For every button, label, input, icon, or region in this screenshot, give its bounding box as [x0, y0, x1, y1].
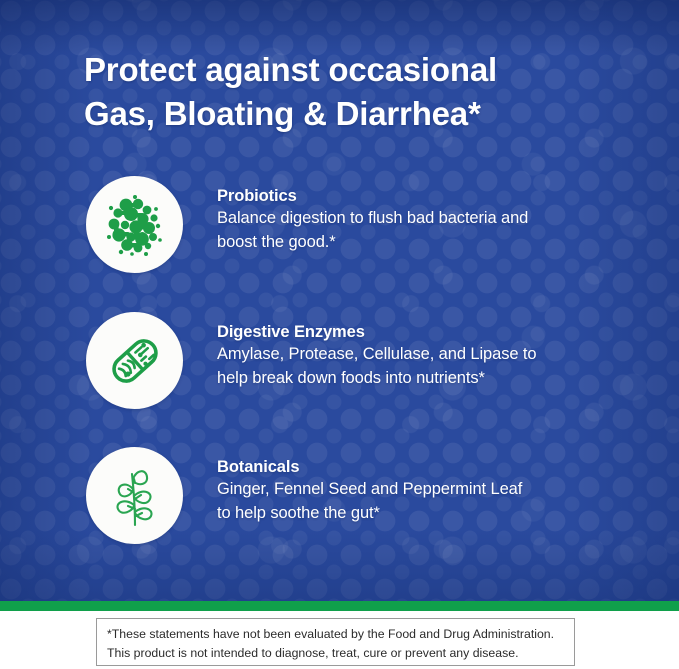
- feature-text-botanicals: Botanicals Ginger, Fennel Seed and Peppe…: [183, 447, 522, 525]
- feature-text-probiotics: Probiotics Balance digestion to flush ba…: [183, 176, 528, 254]
- blue-background-panel: Protect against occasional Gas, Bloating…: [0, 0, 679, 601]
- feature-row-botanicals: Botanicals Ginger, Fennel Seed and Peppe…: [86, 447, 606, 544]
- feature-description-line-1: Amylase, Protease, Cellulase, and Lipase…: [217, 342, 536, 366]
- disclaimer-box: *These statements have not been evaluate…: [96, 618, 575, 666]
- feature-description: Amylase, Protease, Cellulase, and Lipase…: [217, 342, 536, 390]
- product-benefits-poster: Protect against occasional Gas, Bloating…: [0, 0, 679, 669]
- headline: Protect against occasional Gas, Bloating…: [84, 48, 604, 136]
- feature-title: Probiotics: [217, 186, 528, 206]
- feature-description: Balance digestion to flush bad bacteria …: [217, 206, 528, 254]
- footer: *These statements have not been evaluate…: [0, 611, 679, 669]
- digestive-enzyme-capsule-icon: [103, 329, 167, 393]
- green-divider-bar: [0, 601, 679, 611]
- feature-description-line-2: to help soothe the gut*: [217, 501, 522, 525]
- disclaimer-line-1: *These statements have not been evaluate…: [107, 625, 564, 644]
- feature-description: Ginger, Fennel Seed and Peppermint Leaf …: [217, 477, 522, 525]
- probiotics-bacteria-cluster-icon: [102, 192, 168, 258]
- feature-row-digestive-enzymes: Digestive Enzymes Amylase, Protease, Cel…: [86, 312, 606, 409]
- headline-line-2: Gas, Bloating & Diarrhea*: [84, 92, 604, 136]
- icon-badge-botanicals: [86, 447, 183, 544]
- feature-description-line-1: Ginger, Fennel Seed and Peppermint Leaf: [217, 477, 522, 501]
- feature-description-line-2: boost the good.*: [217, 230, 528, 254]
- icon-badge-probiotics: [86, 176, 183, 273]
- headline-line-1: Protect against occasional: [84, 48, 604, 92]
- disclaimer-line-2: This product is not intended to diagnose…: [107, 644, 564, 663]
- feature-description-line-2: help break down foods into nutrients*: [217, 366, 536, 390]
- feature-title: Digestive Enzymes: [217, 322, 536, 342]
- feature-title: Botanicals: [217, 457, 522, 477]
- icon-badge-digestive-enzymes: [86, 312, 183, 409]
- feature-row-probiotics: Probiotics Balance digestion to flush ba…: [86, 176, 606, 273]
- feature-text-digestive-enzymes: Digestive Enzymes Amylase, Protease, Cel…: [183, 312, 536, 390]
- feature-description-line-1: Balance digestion to flush bad bacteria …: [217, 206, 528, 230]
- botanical-plant-sprig-icon: [104, 465, 166, 527]
